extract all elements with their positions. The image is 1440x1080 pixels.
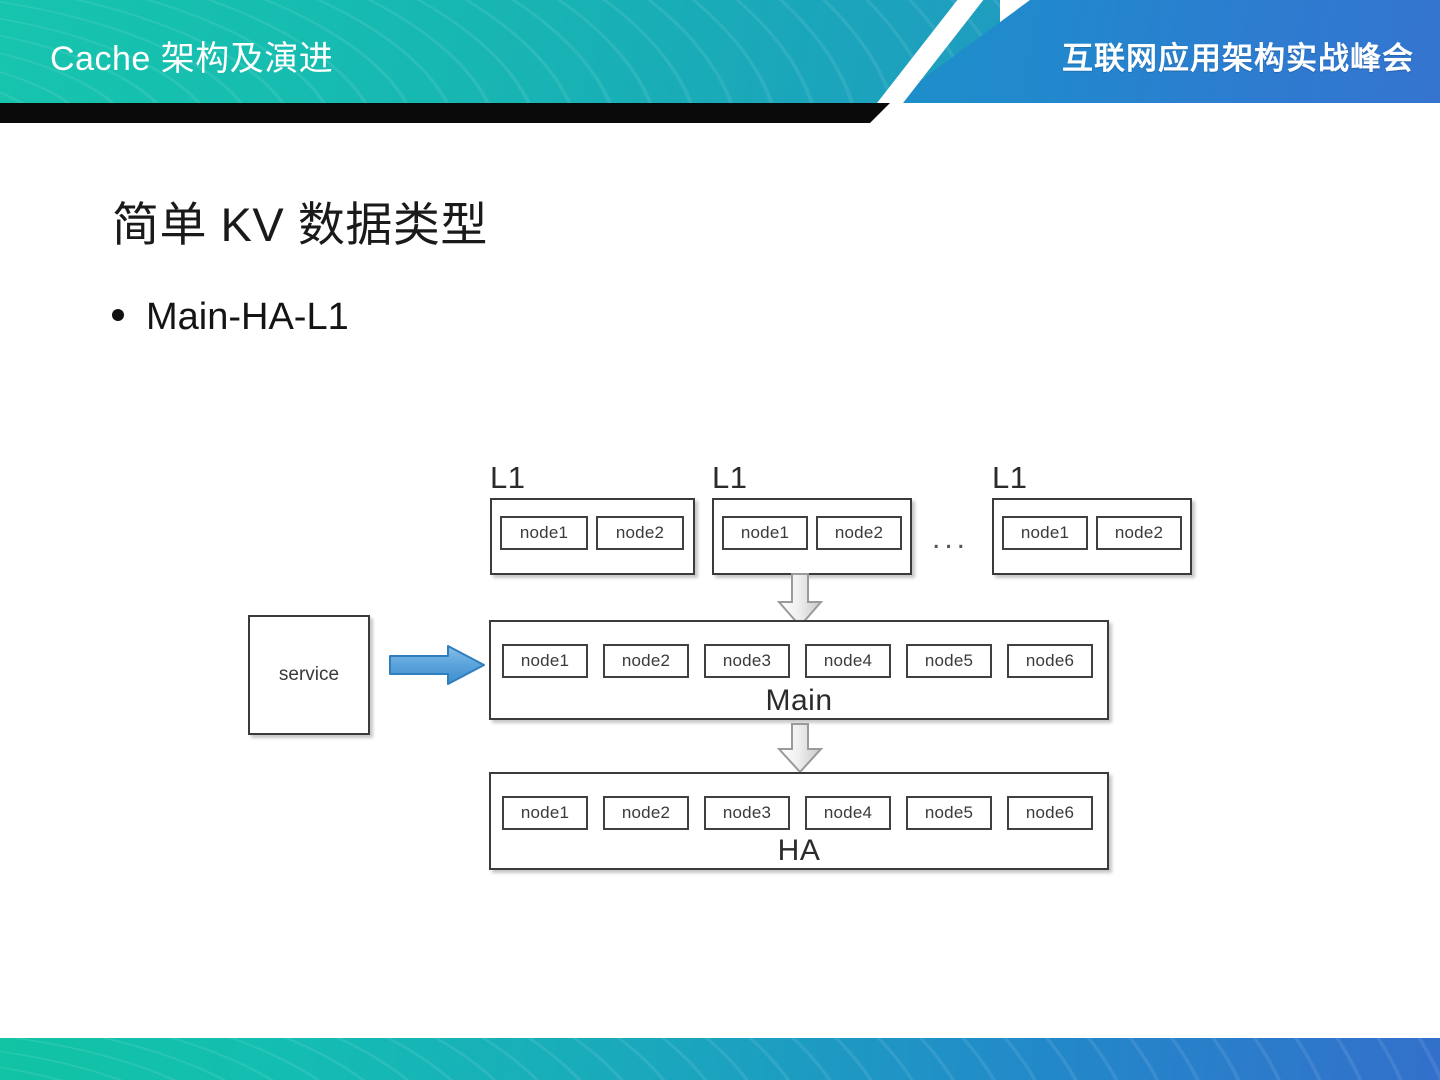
footer-texture — [0, 1038, 1440, 1080]
l1-node-1-1: node1 — [500, 516, 588, 550]
main-node-1: node1 — [502, 644, 588, 678]
slide-header: Cache 架构及演进 互联网应用架构实战峰会 — [0, 0, 1440, 103]
bullet-list-item: Main-HA-L1 — [112, 296, 349, 339]
l1-node-2-1: node1 — [722, 516, 808, 550]
slide-title: Cache 架构及演进 — [50, 31, 333, 80]
main-node-6: node6 — [1007, 644, 1093, 678]
main-node-3: node3 — [704, 644, 790, 678]
arrow-main-to-ha-icon — [776, 722, 824, 774]
ha-row-label: HA — [491, 834, 1107, 868]
ha-node-5: node5 — [906, 796, 992, 830]
bullet-item-label: Main-HA-L1 — [146, 296, 349, 339]
arrow-service-to-main-icon — [388, 644, 488, 686]
l1-group-label-2: L1 — [712, 460, 747, 496]
main-node-5: node5 — [906, 644, 992, 678]
l1-group-label-3: L1 — [992, 460, 1027, 496]
ha-node-6: node6 — [1007, 796, 1093, 830]
l1-group-box-3: node1 node2 — [992, 498, 1192, 575]
main-row-box: node1 node2 node3 node4 node5 node6 Main — [489, 620, 1109, 720]
main-row-label: Main — [491, 684, 1107, 718]
bullet-dot-icon — [112, 309, 124, 321]
architecture-diagram: L1 node1 node2 L1 node1 node2 ... L1 nod… — [0, 0, 1440, 1080]
page-title: 简单 KV 数据类型 — [112, 186, 488, 255]
main-node-4: node4 — [805, 644, 891, 678]
l1-group-label-1: L1 — [490, 460, 525, 496]
ha-node-3: node3 — [704, 796, 790, 830]
header-black-divider — [0, 103, 890, 123]
l1-group-box-1: node1 node2 — [490, 498, 695, 575]
main-node-2: node2 — [603, 644, 689, 678]
service-label: service — [250, 664, 368, 686]
l1-node-1-2: node2 — [596, 516, 684, 550]
ha-node-4: node4 — [805, 796, 891, 830]
conference-brand-title: 互联网应用架构实战峰会 — [1062, 33, 1414, 78]
l1-node-3-1: node1 — [1002, 516, 1088, 550]
l1-group-ellipsis: ... — [932, 522, 969, 556]
l1-group-box-2: node1 node2 — [712, 498, 912, 575]
ha-node-2: node2 — [603, 796, 689, 830]
ha-node-1: node1 — [502, 796, 588, 830]
slide-footer — [0, 1038, 1440, 1080]
l1-node-3-2: node2 — [1096, 516, 1182, 550]
l1-node-2-2: node2 — [816, 516, 902, 550]
service-box: service — [248, 615, 370, 735]
ha-row-box: node1 node2 node3 node4 node5 node6 HA — [489, 772, 1109, 870]
